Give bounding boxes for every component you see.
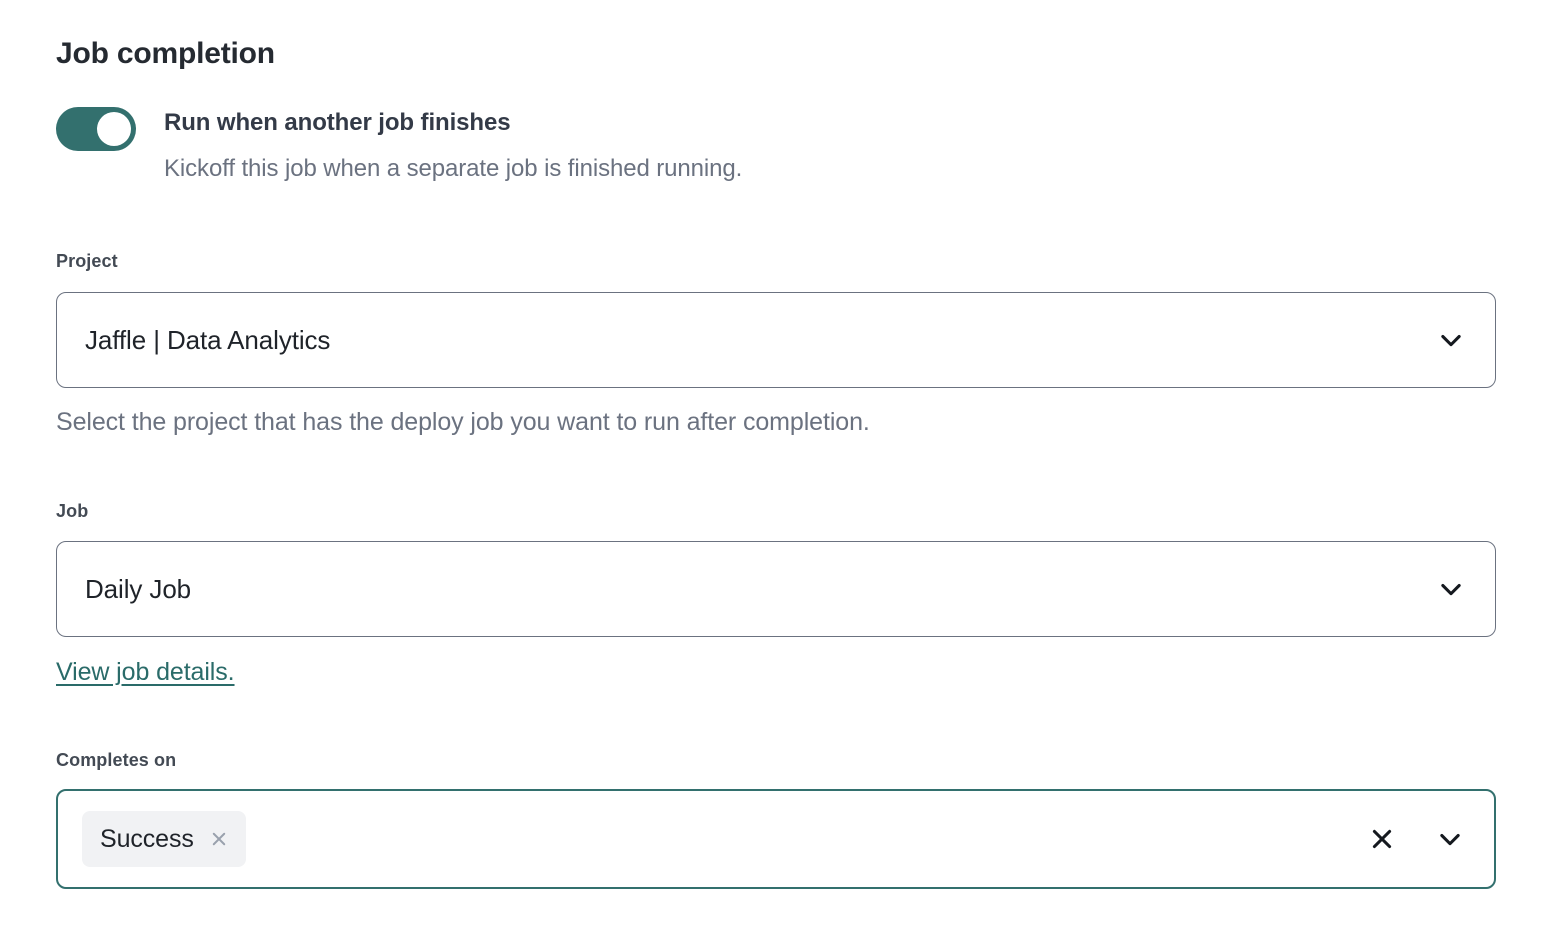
project-select-value: Jaffle | Data Analytics — [85, 324, 1429, 356]
completes-on-label: Completes on — [56, 749, 176, 771]
multiselect-actions — [1360, 817, 1476, 861]
tag-success: Success — [82, 811, 246, 867]
view-job-details-link[interactable]: View job details. — [56, 656, 235, 688]
tag-label: Success — [100, 824, 194, 854]
job-select[interactable]: Daily Job — [56, 541, 1496, 637]
chevron-down-icon[interactable] — [1428, 817, 1472, 861]
run-when-another-job-finishes-row: Run when another job finishes Kickoff th… — [56, 106, 742, 184]
toggle-knob — [97, 112, 131, 146]
chevron-down-icon[interactable] — [1429, 567, 1473, 611]
clear-selection-close-icon[interactable] — [1360, 817, 1404, 861]
job-completion-panel: Job completion Run when another job fini… — [0, 0, 1564, 936]
project-helper-text: Select the project that has the deploy j… — [56, 406, 870, 438]
project-select[interactable]: Jaffle | Data Analytics — [56, 292, 1496, 388]
job-select-value: Daily Job — [85, 573, 1429, 605]
page-title: Job completion — [56, 36, 275, 72]
toggle-description: Kickoff this job when a separate job is … — [164, 154, 742, 184]
toggle-label: Run when another job finishes — [164, 108, 742, 138]
run-when-another-job-finishes-toggle[interactable] — [56, 107, 136, 151]
toggle-text-block: Run when another job finishes Kickoff th… — [164, 106, 742, 184]
close-icon[interactable] — [208, 828, 230, 850]
completes-on-multiselect[interactable]: Success — [56, 789, 1496, 889]
chevron-down-icon[interactable] — [1429, 318, 1473, 362]
job-label: Job — [56, 500, 88, 522]
project-label: Project — [56, 250, 118, 272]
